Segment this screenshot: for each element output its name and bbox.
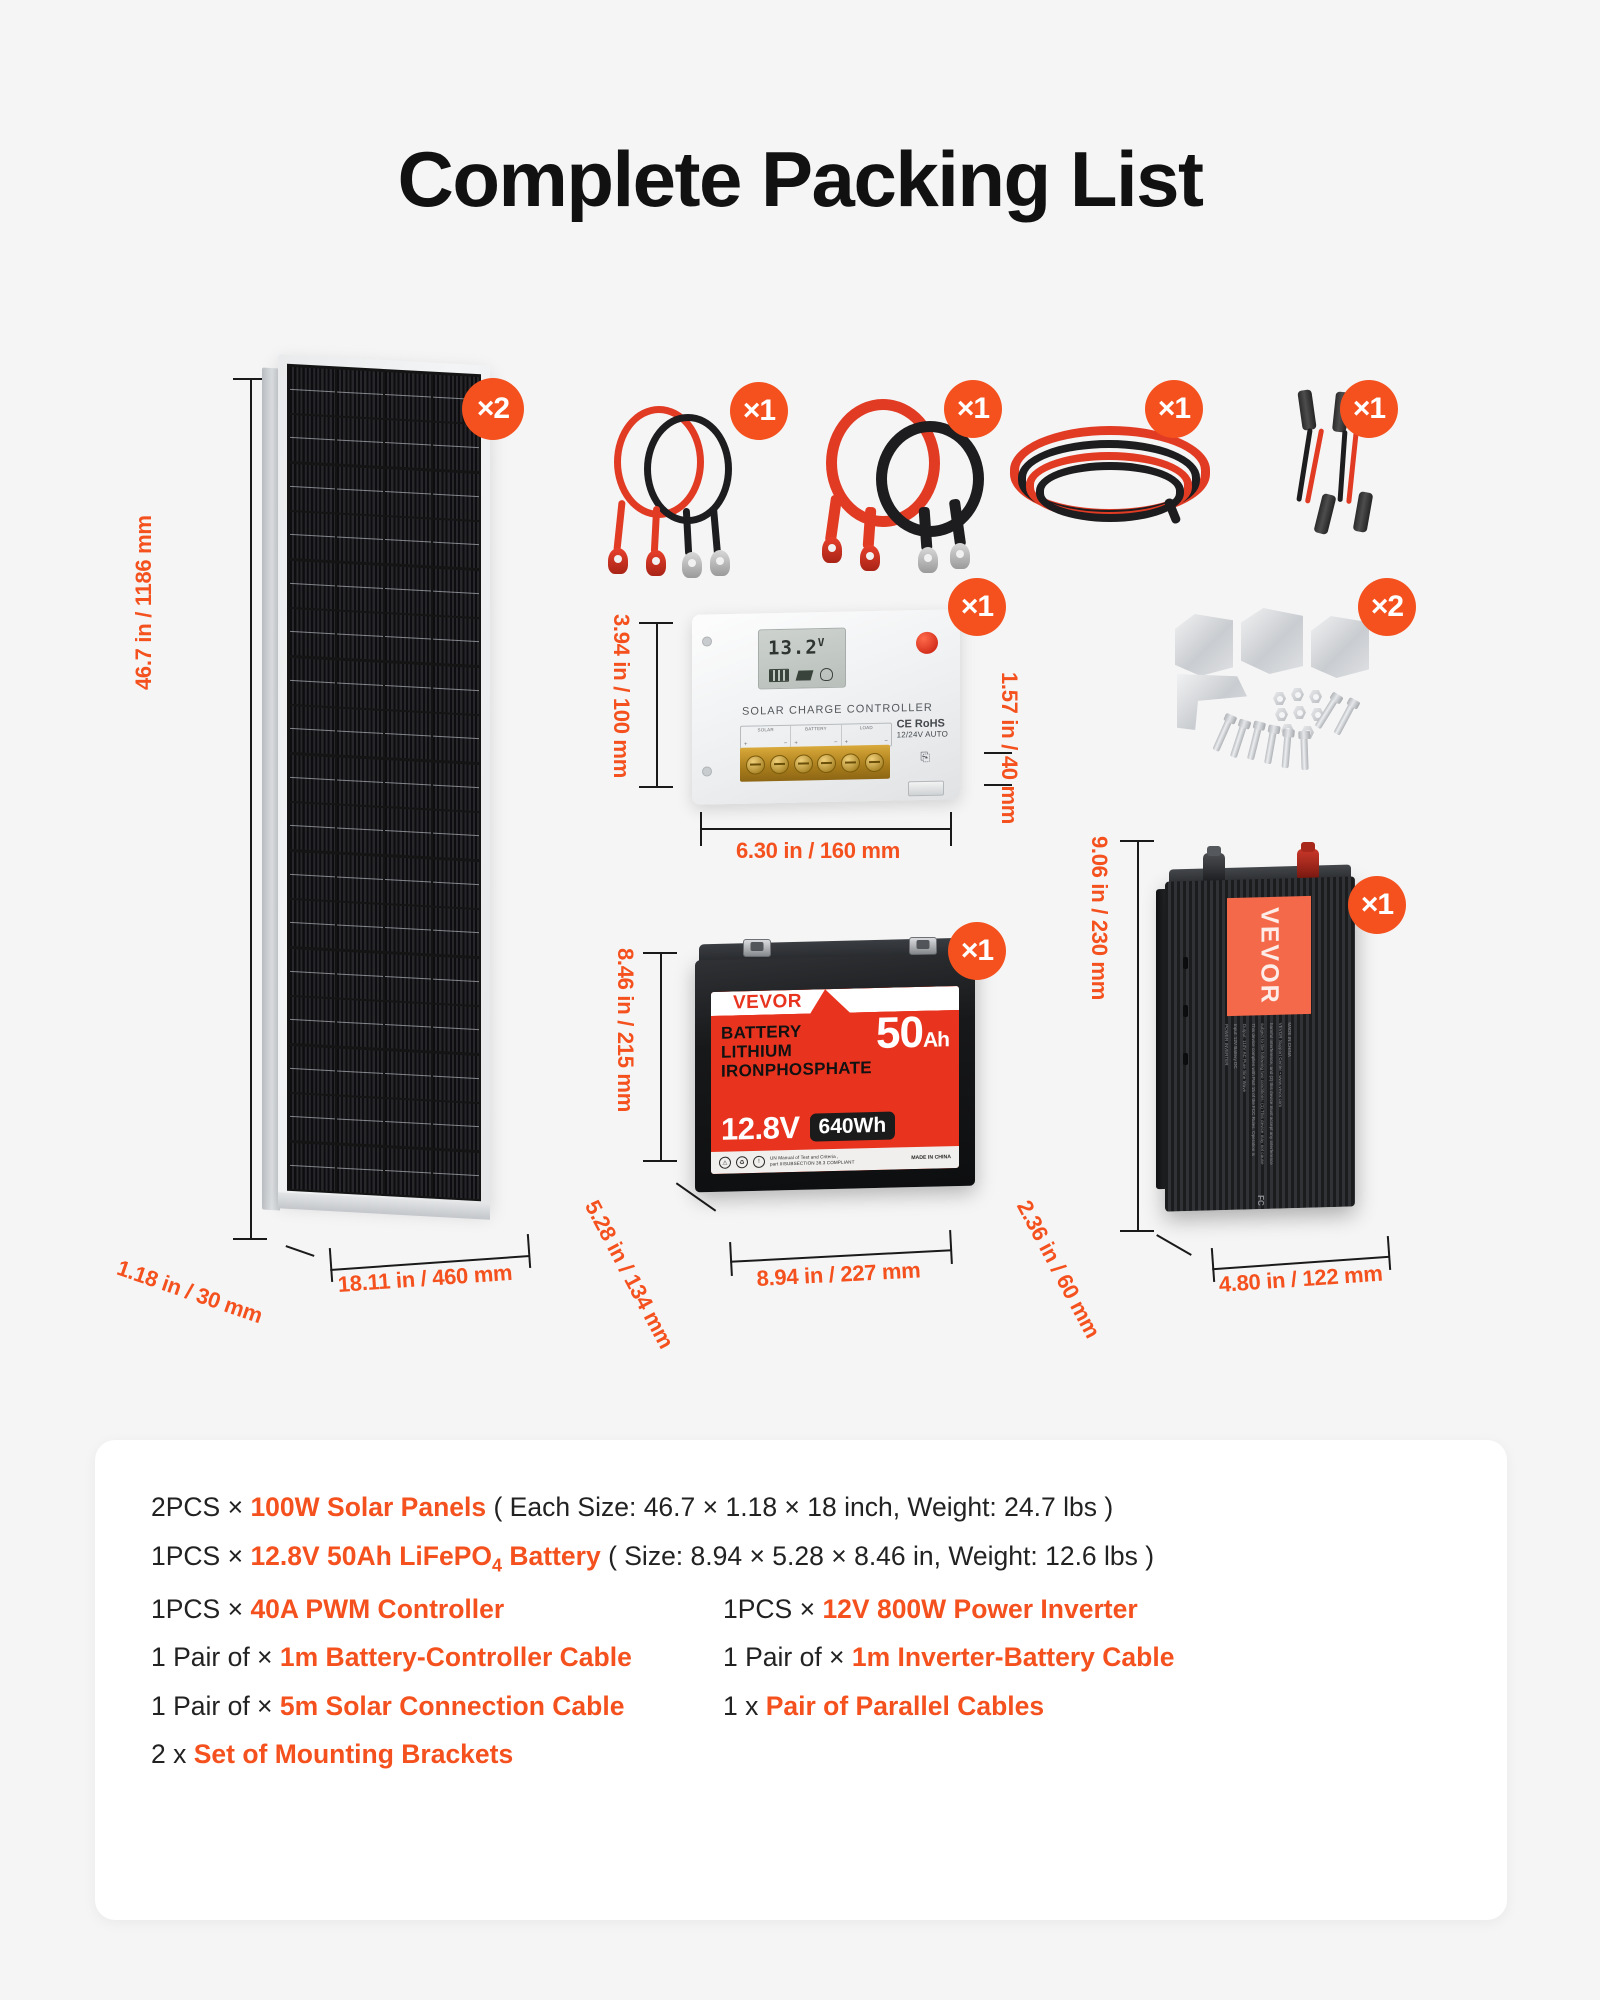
solar-cell <box>433 1150 478 1198</box>
solar-cell <box>337 1048 382 1096</box>
inverter-fineprint-8: MADE IN CHINA <box>1287 1022 1292 1057</box>
panel-width-cap-left <box>329 1248 333 1282</box>
nut-5 <box>1293 706 1306 719</box>
fcc-icon: FC <box>1256 1195 1265 1206</box>
panel-thickness-line <box>285 1245 314 1257</box>
cable-lead-red <box>613 500 625 552</box>
solar-cell <box>385 857 430 905</box>
dim-inverter-length: 9.06 in / 230 mm <box>1086 836 1112 1000</box>
solar-cell <box>337 757 382 805</box>
solar-cell <box>385 566 430 614</box>
solar-cell <box>290 560 335 608</box>
solar-cell <box>290 1094 335 1142</box>
dim-controller-width: 6.30 in / 160 mm <box>736 838 900 864</box>
battery-voltage: 12.8V <box>721 1110 800 1148</box>
battery-icon <box>769 669 789 682</box>
bracket-3 <box>1311 616 1369 678</box>
list-item: 2 x Set of Mounting Brackets <box>151 1741 1507 1768</box>
controller-width-cap-left <box>700 812 702 846</box>
solar-cell <box>337 1145 382 1193</box>
panel-height-line <box>250 378 252 1240</box>
terminal-screw <box>865 752 884 771</box>
solar-cell <box>433 908 478 956</box>
bolt-2 <box>1247 726 1262 761</box>
cable2-lug-black <box>918 547 938 573</box>
inverter-height-line <box>1156 1234 1192 1256</box>
controller-width-line <box>700 828 950 830</box>
dim-panel-thickness: 1.18 in / 30 mm <box>114 1255 266 1329</box>
solar-cell <box>290 706 335 754</box>
bolt-3 <box>1264 730 1277 765</box>
nut-2 <box>1291 688 1304 701</box>
inverter-fineprint-block: POWER INVERTER Input: 12V Battery DC Out… <box>1227 1022 1313 1154</box>
inverter-fineprint-4: This device complies with Part 15 of the… <box>1251 1023 1256 1156</box>
row-highlight: Set of Mounting Brackets <box>194 1739 514 1769</box>
packing-list-page: Complete Packing List ×2 46.7 in / 1186 … <box>0 0 1600 2000</box>
list-item: 1PCS × 12.8V 50Ah LiFePO4 Battery ( Size… <box>151 1543 1507 1574</box>
terminal-screw <box>817 753 836 772</box>
panel-icon <box>796 670 814 680</box>
solar-cell <box>385 711 430 759</box>
solar-cell <box>433 1005 478 1053</box>
packing-list-card: 2PCS × 100W Solar Panels ( Each Size: 46… <box>95 1440 1507 1920</box>
inverter-vent-2 <box>1183 1005 1188 1017</box>
solar-cell-grid <box>287 364 481 1202</box>
solar-cell <box>337 611 382 659</box>
recycle-icon: ♻ <box>736 1156 748 1168</box>
badge-solar-connection-cable: ×1 <box>1145 380 1203 438</box>
coil-black-2 <box>1036 462 1184 522</box>
inverter-brand-panel: VEVOR <box>1227 896 1311 1016</box>
solar-cell <box>337 951 382 999</box>
solar-panel-face <box>278 354 490 1210</box>
battery-origin: MADE IN CHINA <box>911 1154 951 1161</box>
dim-battery-height: 8.46 in / 215 mm <box>612 948 638 1112</box>
list-item: 1 Pair of × 5m Solar Connection Cable 1 … <box>151 1693 1507 1720</box>
solar-cell <box>337 999 382 1047</box>
battery-fineprint: UN Manual of Test and Criteria , part II… <box>770 1154 854 1168</box>
row-prefix: 1 Pair of × <box>723 1642 852 1672</box>
dim-inverter-height: 2.36 in / 60 mm <box>1011 1196 1105 1342</box>
solar-cell <box>385 663 430 711</box>
list-item-right: 1 x Pair of Parallel Cables <box>723 1693 1044 1720</box>
row-highlight: 40A PWM Controller <box>250 1594 504 1624</box>
inverter-fineprint-6: harmful interference, and (2) this devic… <box>1269 1023 1274 1165</box>
list-item-left: 1 Pair of × 1m Battery-Controller Cable <box>151 1644 723 1671</box>
inverter-fineprint-7: VEVOR Support Center • www.vevor.com <box>1278 1023 1283 1108</box>
battery-capacity: 50Ah <box>876 1012 949 1053</box>
row-prefix: 1PCS × <box>723 1594 822 1624</box>
solar-cell <box>385 905 430 953</box>
cable2-lead-red-2 <box>863 507 877 550</box>
terminal-load: LOAD +− <box>842 724 891 747</box>
row-suffix: ( Size: 8.94 × 5.28 × 8.46 in, Weight: 1… <box>601 1541 1154 1571</box>
solar-cell <box>385 808 430 856</box>
solar-cell <box>433 811 478 859</box>
battery-terminal-positive <box>909 937 937 955</box>
terminal-screw <box>770 754 789 773</box>
bracket-2 <box>1241 608 1303 674</box>
solar-cell <box>290 1045 335 1093</box>
solar-cell <box>385 954 430 1002</box>
cable-lug-black <box>682 552 702 578</box>
row-prefix: 1 x <box>723 1691 766 1721</box>
lcd-icon-group <box>769 668 833 682</box>
list-item-left: 1PCS × 40A PWM Controller <box>151 1596 723 1623</box>
inverter-terminal-positive <box>1297 849 1319 879</box>
solar-cell <box>433 1102 478 1150</box>
inverter-fineprint-2: Input: 12V Battery DC <box>1233 1024 1238 1069</box>
solar-cell <box>385 614 430 662</box>
list-item: 1 Pair of × 1m Battery-Controller Cable … <box>151 1644 1507 1671</box>
solar-cell <box>337 708 382 756</box>
controller-width-cap-right <box>950 812 952 846</box>
solar-cell <box>385 420 430 468</box>
solar-cell <box>385 517 430 565</box>
solar-cell <box>385 1148 430 1196</box>
inverter-length-cap-top <box>1120 840 1154 842</box>
list-item-left: 1 Pair of × 5m Solar Connection Cable <box>151 1693 723 1720</box>
list-item-right: 1 Pair of × 1m Inverter-Battery Cable <box>723 1644 1174 1671</box>
inverter-width-cap-left <box>1211 1248 1215 1282</box>
bolt-1 <box>1230 724 1247 758</box>
solar-cell <box>290 415 335 463</box>
solar-cell <box>433 714 478 762</box>
battery-width-cap-right <box>949 1230 953 1264</box>
solar-cell <box>290 609 335 657</box>
mc4-connector-4 <box>1353 491 1374 533</box>
solar-cell <box>433 859 478 907</box>
solar-cell <box>433 471 478 519</box>
terminal-screw <box>794 754 813 773</box>
mc4-wire-red-2 <box>1346 430 1359 504</box>
row-highlight: 12.8V 50Ah LiFePO4 Battery <box>250 1541 600 1571</box>
row-highlight: 1m Battery-Controller Cable <box>280 1642 632 1672</box>
solar-cell <box>290 900 335 948</box>
packing-list-content: 2PCS × 100W Solar Panels ( Each Size: 46… <box>95 1440 1507 1768</box>
inverter-fineprint-1: POWER INVERTER <box>1224 1024 1229 1065</box>
solar-cell <box>433 520 478 568</box>
solar-cell <box>337 1096 382 1144</box>
cable2-lug-black-2 <box>950 543 970 569</box>
battery-label: VEVOR LiFePO4 BATTERY LITHIUM IRONPHOSPH… <box>711 986 959 1174</box>
solar-cell <box>337 854 382 902</box>
inverter-fineprint-3: Output: 110V AC Pure Sine Wave <box>1242 1024 1247 1093</box>
battery-height-cap-bottom <box>643 1160 677 1162</box>
solar-panel-image <box>262 360 492 1225</box>
mc4-connector-1 <box>1297 389 1316 431</box>
cable-lug-black-2 <box>710 550 730 576</box>
row-prefix: 2PCS × <box>151 1492 250 1522</box>
inverter-length-line <box>1137 840 1139 1232</box>
inverter-image: VEVOR POWER INVERTER Input: 12V Battery … <box>1165 845 1360 1215</box>
panel-height-cap-bottom <box>233 1238 267 1240</box>
lcd-reading: 13.2V <box>768 636 825 660</box>
solar-cell <box>290 851 335 899</box>
badge-inverter-battery-cable: ×1 <box>944 380 1002 438</box>
solar-cell <box>290 463 335 511</box>
bracket-1 <box>1175 614 1233 676</box>
inverter-length-cap-bottom <box>1120 1230 1154 1232</box>
cable-lug-red <box>608 548 628 574</box>
solar-cell <box>290 803 335 851</box>
battery-label-main: BATTERY LITHIUM IRONPHOSPHATE 50Ah <box>711 1010 959 1081</box>
battery-terminal-negative <box>743 939 771 957</box>
panel-width-cap-right <box>527 1234 531 1268</box>
solar-cell <box>290 366 335 414</box>
solar-cell <box>433 617 478 665</box>
terminal-screw <box>841 753 860 772</box>
battery-height-cap-top <box>643 952 677 954</box>
solar-cell <box>290 948 335 996</box>
dim-battery-width: 8.94 in / 227 mm <box>756 1257 921 1292</box>
terminal-solar: SOLAR +− <box>741 726 791 749</box>
solar-cell <box>290 512 335 560</box>
row-highlight: 5m Solar Connection Cable <box>280 1691 625 1721</box>
badge-battery-controller-cable: ×1 <box>730 382 788 440</box>
row-prefix: 1PCS × <box>151 1594 250 1624</box>
mc4-connector-3 <box>1313 493 1336 535</box>
row-highlight: 1m Inverter-Battery Cable <box>852 1642 1175 1672</box>
badge-mounting-brackets: ×2 <box>1358 578 1416 636</box>
dim-panel-height: 46.7 in / 1186 mm <box>131 515 157 690</box>
nut-4 <box>1275 708 1288 721</box>
usb-port <box>908 781 944 797</box>
mc4-wire-black-2 <box>1337 430 1347 502</box>
list-item: 1PCS × 40A PWM Controller 1PCS × 12V 800… <box>151 1596 1507 1623</box>
row-prefix: 1PCS × <box>151 1541 250 1571</box>
controller-height-cap-bottom <box>639 786 673 788</box>
row-highlight: Pair of Parallel Cables <box>766 1691 1044 1721</box>
solar-cell <box>337 805 382 853</box>
row-highlight: 12V 800W Power Inverter <box>822 1594 1137 1624</box>
solar-cell <box>433 665 478 713</box>
controller-height-line <box>656 622 658 788</box>
solar-cell <box>385 1051 430 1099</box>
bolt-7 <box>1333 702 1355 735</box>
caution-icon: ! <box>753 1156 765 1168</box>
badge-battery: ×1 <box>948 922 1006 980</box>
solar-cell <box>337 660 382 708</box>
inverter-fineprint-5: subject to the following two conditions:… <box>1260 1023 1265 1165</box>
terminal-battery: BATTERY +− <box>791 725 841 748</box>
list-item-right: 1PCS × 12V 800W Power Inverter <box>723 1596 1138 1623</box>
solar-cell <box>385 469 430 517</box>
page-title: Complete Packing List <box>0 140 1600 218</box>
solar-cell <box>337 466 382 514</box>
dim-battery-depth: 5.28 in / 134 mm <box>579 1196 679 1353</box>
controller-mount-hole-bottom <box>702 766 712 776</box>
bolt-5 <box>1300 736 1308 770</box>
solar-cell <box>337 417 382 465</box>
controller-certification: CE RoHS 12/24V AUTO <box>897 717 948 739</box>
battery-chemistry: LiFePO4 <box>888 989 945 1006</box>
solar-cell <box>433 762 478 810</box>
controller-height-cap-top <box>639 622 673 624</box>
battery-brand: VEVOR <box>733 991 802 1015</box>
inverter-terminal-negative <box>1203 853 1225 883</box>
battery-width-cap-left <box>729 1242 733 1276</box>
list-item: 2PCS × 100W Solar Panels ( Each Size: 46… <box>151 1494 1507 1521</box>
bracket-4 <box>1177 674 1247 730</box>
bolt-4 <box>1282 734 1292 768</box>
dim-controller-height: 3.94 in / 100 mm <box>608 614 634 778</box>
solar-cell <box>290 1142 335 1190</box>
row-prefix: 1 Pair of × <box>151 1642 280 1672</box>
dim-panel-width: 18.11 in / 460 mm <box>337 1260 513 1298</box>
battery-energy: 640Wh <box>810 1112 896 1142</box>
row-highlight: 100W Solar Panels <box>250 1492 486 1522</box>
terminal-screw <box>746 755 765 774</box>
row-prefix: 2 x <box>151 1739 194 1769</box>
solar-cell <box>337 369 382 417</box>
inverter-vent-3 <box>1183 1053 1188 1065</box>
load-bulb-icon <box>820 668 833 681</box>
inverter-width-cap-right <box>1387 1236 1391 1270</box>
controller-title: SOLAR CHARGE CONTROLLER <box>742 702 933 718</box>
nut-3 <box>1309 690 1322 703</box>
controller-terminal-block <box>740 745 890 782</box>
solar-cell <box>385 372 430 420</box>
solar-cell <box>433 956 478 1004</box>
battery-spec-row: 12.8V 640Wh <box>721 1106 949 1148</box>
cable2-lug-red <box>822 537 842 563</box>
solar-cell <box>385 1099 430 1147</box>
charge-controller-image: 13.2V SOLAR CHARGE CONTROLLER CE RoHS 12… <box>692 609 960 805</box>
cable-lead-red-2 <box>651 506 661 554</box>
warning-icon: ⚠ <box>719 1157 731 1169</box>
dim-controller-depth: 1.57 in / 40 mm <box>996 672 1022 824</box>
row-prefix: 1 Pair of × <box>151 1691 280 1721</box>
solar-cell <box>290 997 335 1045</box>
cable-lug-red-2 <box>646 550 666 576</box>
solar-cell <box>433 1053 478 1101</box>
battery-height-line <box>660 952 662 1162</box>
controller-lcd: 13.2V <box>758 628 846 690</box>
solar-cell <box>290 754 335 802</box>
controller-led-indicator <box>916 632 938 654</box>
row-suffix: ( Each Size: 46.7 × 1.18 × 18 inch, Weig… <box>486 1492 1113 1522</box>
usb-icon: ⎘ <box>920 750 930 765</box>
bolt-8 <box>1212 718 1232 752</box>
cable-lead-black-2 <box>710 506 721 556</box>
battery-image: VEVOR LiFePO4 BATTERY LITHIUM IRONPHOSPH… <box>695 935 975 1205</box>
solar-cell <box>385 760 430 808</box>
inverter-brand: VEVOR <box>1255 907 1284 1005</box>
nut-1 <box>1273 692 1286 705</box>
solar-cell <box>337 902 382 950</box>
solar-cell <box>337 514 382 562</box>
badge-solar-panel: ×2 <box>462 378 524 440</box>
solar-cell <box>337 563 382 611</box>
badge-parallel-cables: ×1 <box>1340 380 1398 438</box>
badge-inverter: ×1 <box>1348 876 1406 934</box>
solar-cell <box>290 657 335 705</box>
solar-cell <box>385 1002 430 1050</box>
inverter-vent-1 <box>1183 957 1188 969</box>
badge-charge-controller: ×1 <box>948 578 1006 636</box>
solar-cell <box>433 568 478 616</box>
cable2-lug-red-2 <box>860 545 880 571</box>
controller-mount-hole-top <box>702 636 712 646</box>
